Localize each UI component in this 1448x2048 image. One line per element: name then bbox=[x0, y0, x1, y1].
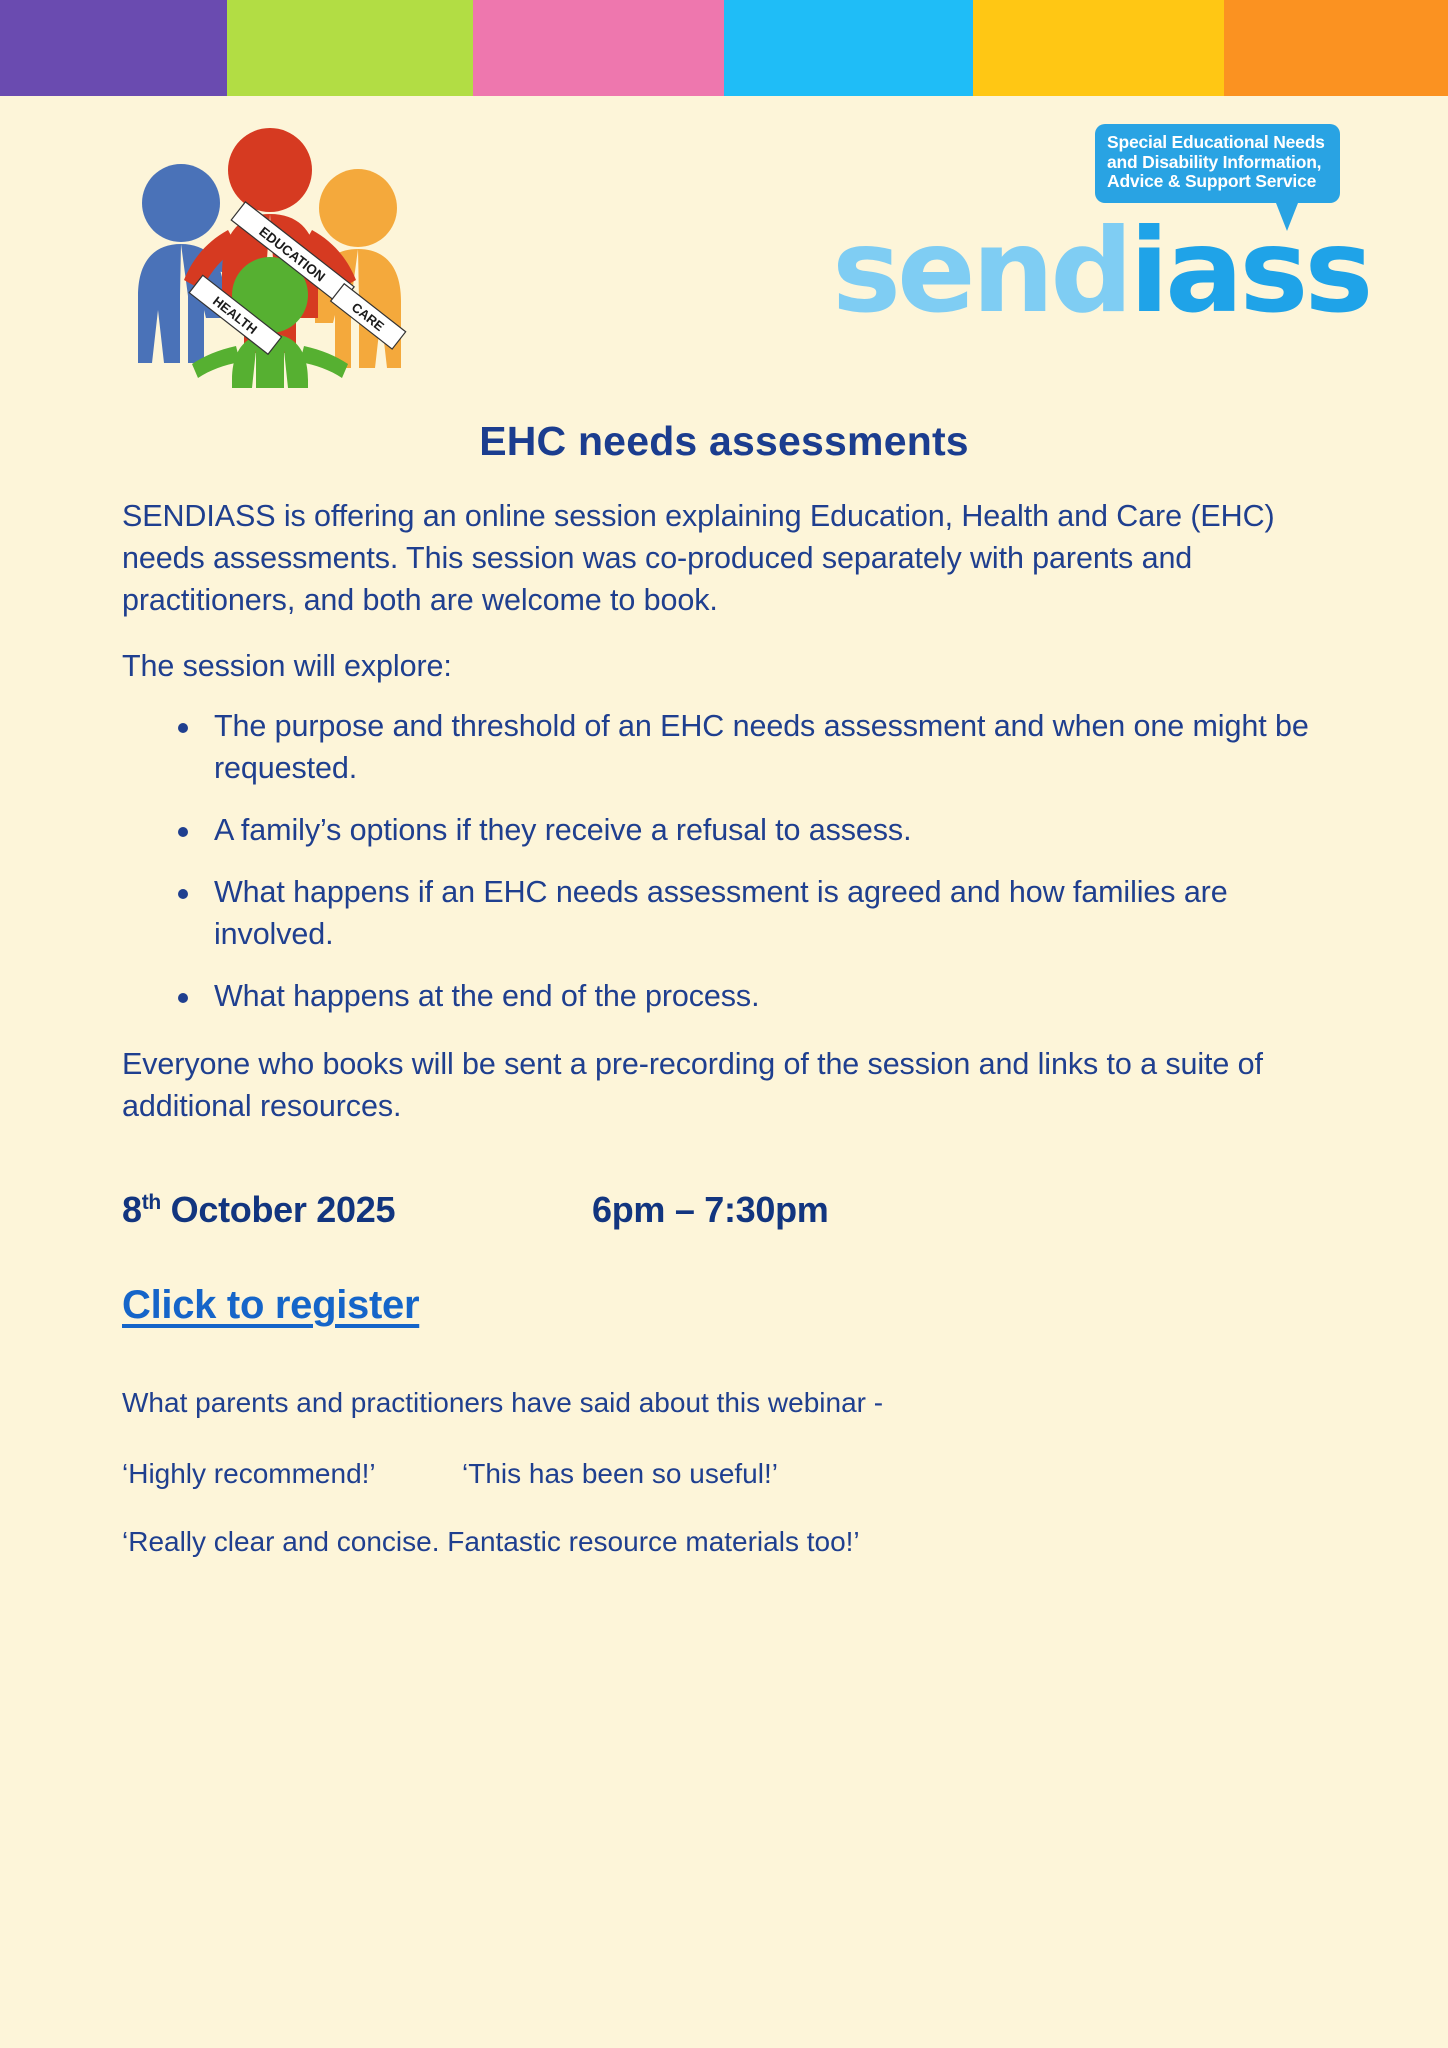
testimonial-row: ‘Highly recommend!’ ‘This has been so us… bbox=[122, 1458, 1328, 1490]
list-item: A family’s options if they receive a ref… bbox=[170, 809, 1328, 851]
color-swatch-yellow bbox=[973, 0, 1224, 96]
color-swatch-pink bbox=[473, 0, 724, 96]
color-swatch-cyan bbox=[724, 0, 973, 96]
testimonial-quote-1: ‘Highly recommend!’ bbox=[122, 1458, 462, 1490]
header: HEALTH EDUCATION CARE Special Educationa… bbox=[0, 96, 1448, 406]
list-item: The purpose and threshold of an EHC need… bbox=[170, 705, 1328, 789]
explore-list: The purpose and threshold of an EHC need… bbox=[122, 705, 1328, 1017]
testimonial-quote-3: ‘Really clear and concise. Fantastic res… bbox=[122, 1526, 1328, 1558]
sendiass-logo: Special Educational Needs and Disability… bbox=[830, 124, 1340, 374]
body-block: SENDIASS is offering an online session e… bbox=[0, 495, 1448, 1558]
register-link[interactable]: Click to register bbox=[122, 1283, 419, 1328]
sendiass-wordmark-send: send bbox=[832, 204, 1129, 339]
sendiass-tagline-line-2: and Disability Information, bbox=[1107, 153, 1329, 173]
sendiass-wordmark: sendiass bbox=[832, 214, 1369, 330]
event-time: 6pm – 7:30pm bbox=[592, 1189, 829, 1231]
event-date-day: 8 bbox=[122, 1189, 142, 1230]
partnership-logo-icon: HEALTH EDUCATION CARE bbox=[118, 118, 418, 388]
top-color-bar bbox=[0, 0, 1448, 96]
closing-paragraph: Everyone who books will be sent a pre-re… bbox=[122, 1043, 1328, 1127]
sendiass-tagline-bubble: Special Educational Needs and Disability… bbox=[1095, 124, 1340, 203]
list-item: What happens at the end of the process. bbox=[170, 975, 1328, 1017]
partnership-logo: HEALTH EDUCATION CARE bbox=[118, 118, 418, 388]
color-swatch-green bbox=[227, 0, 473, 96]
main-content: EHC needs assessments SENDIASS is offeri… bbox=[0, 406, 1448, 1558]
list-item: What happens if an EHC needs assessment … bbox=[170, 871, 1328, 955]
sendiass-wordmark-iass: iass bbox=[1129, 204, 1369, 339]
event-date-ordinal: th bbox=[142, 1191, 161, 1214]
explore-lead: The session will explore: bbox=[122, 645, 1328, 687]
event-date-rest: October 2025 bbox=[161, 1189, 395, 1230]
testimonial-intro: What parents and practitioners have said… bbox=[122, 1384, 1328, 1422]
testimonial-quote-2: ‘This has been so useful!’ bbox=[462, 1458, 778, 1490]
sendiass-tagline-line-3: Advice & Support Service bbox=[1107, 172, 1329, 192]
color-swatch-orange bbox=[1224, 0, 1448, 96]
intro-paragraph: SENDIASS is offering an online session e… bbox=[122, 495, 1328, 621]
event-datetime-row: 8th October 2025 6pm – 7:30pm bbox=[122, 1189, 1328, 1231]
color-swatch-purple bbox=[0, 0, 227, 96]
event-date: 8th October 2025 bbox=[122, 1189, 592, 1231]
sendiass-tagline-line-1: Special Educational Needs bbox=[1107, 133, 1329, 153]
page-title: EHC needs assessments bbox=[0, 406, 1448, 469]
